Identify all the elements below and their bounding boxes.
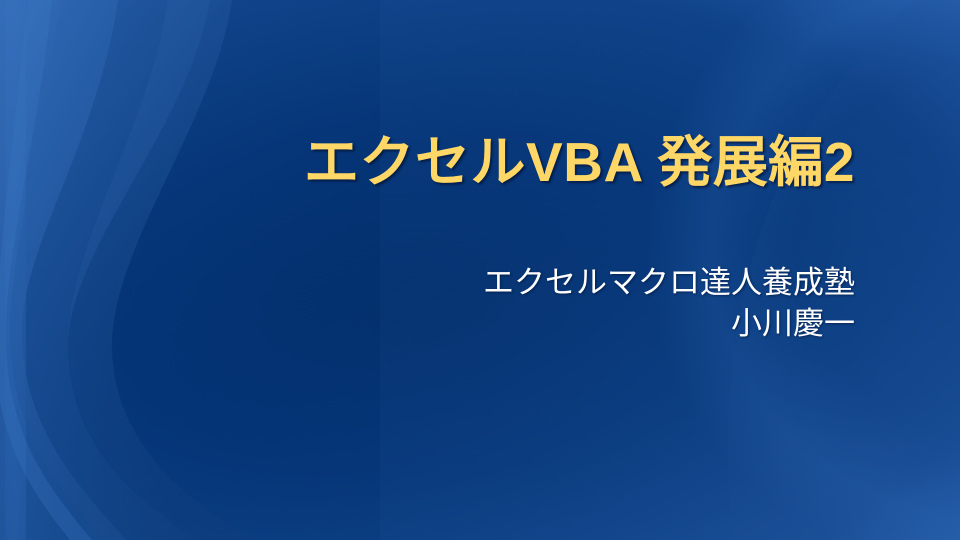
subtitle-presenter: 小川慶一 xyxy=(300,303,855,344)
page-title: エクセルVBA 発展編2 xyxy=(150,132,855,193)
title-slide: エクセルVBA 発展編2 エクセルマクロ達人養成塾 小川慶一 xyxy=(0,0,960,540)
subtitle-placeholder[interactable]: エクセルマクロ達人養成塾 小川慶一 xyxy=(300,262,855,344)
slide-content: エクセルVBA 発展編2 エクセルマクロ達人養成塾 小川慶一 xyxy=(0,0,960,540)
title-placeholder[interactable]: エクセルVBA 発展編2 xyxy=(150,132,855,193)
subtitle-organization: エクセルマクロ達人養成塾 xyxy=(300,262,855,303)
